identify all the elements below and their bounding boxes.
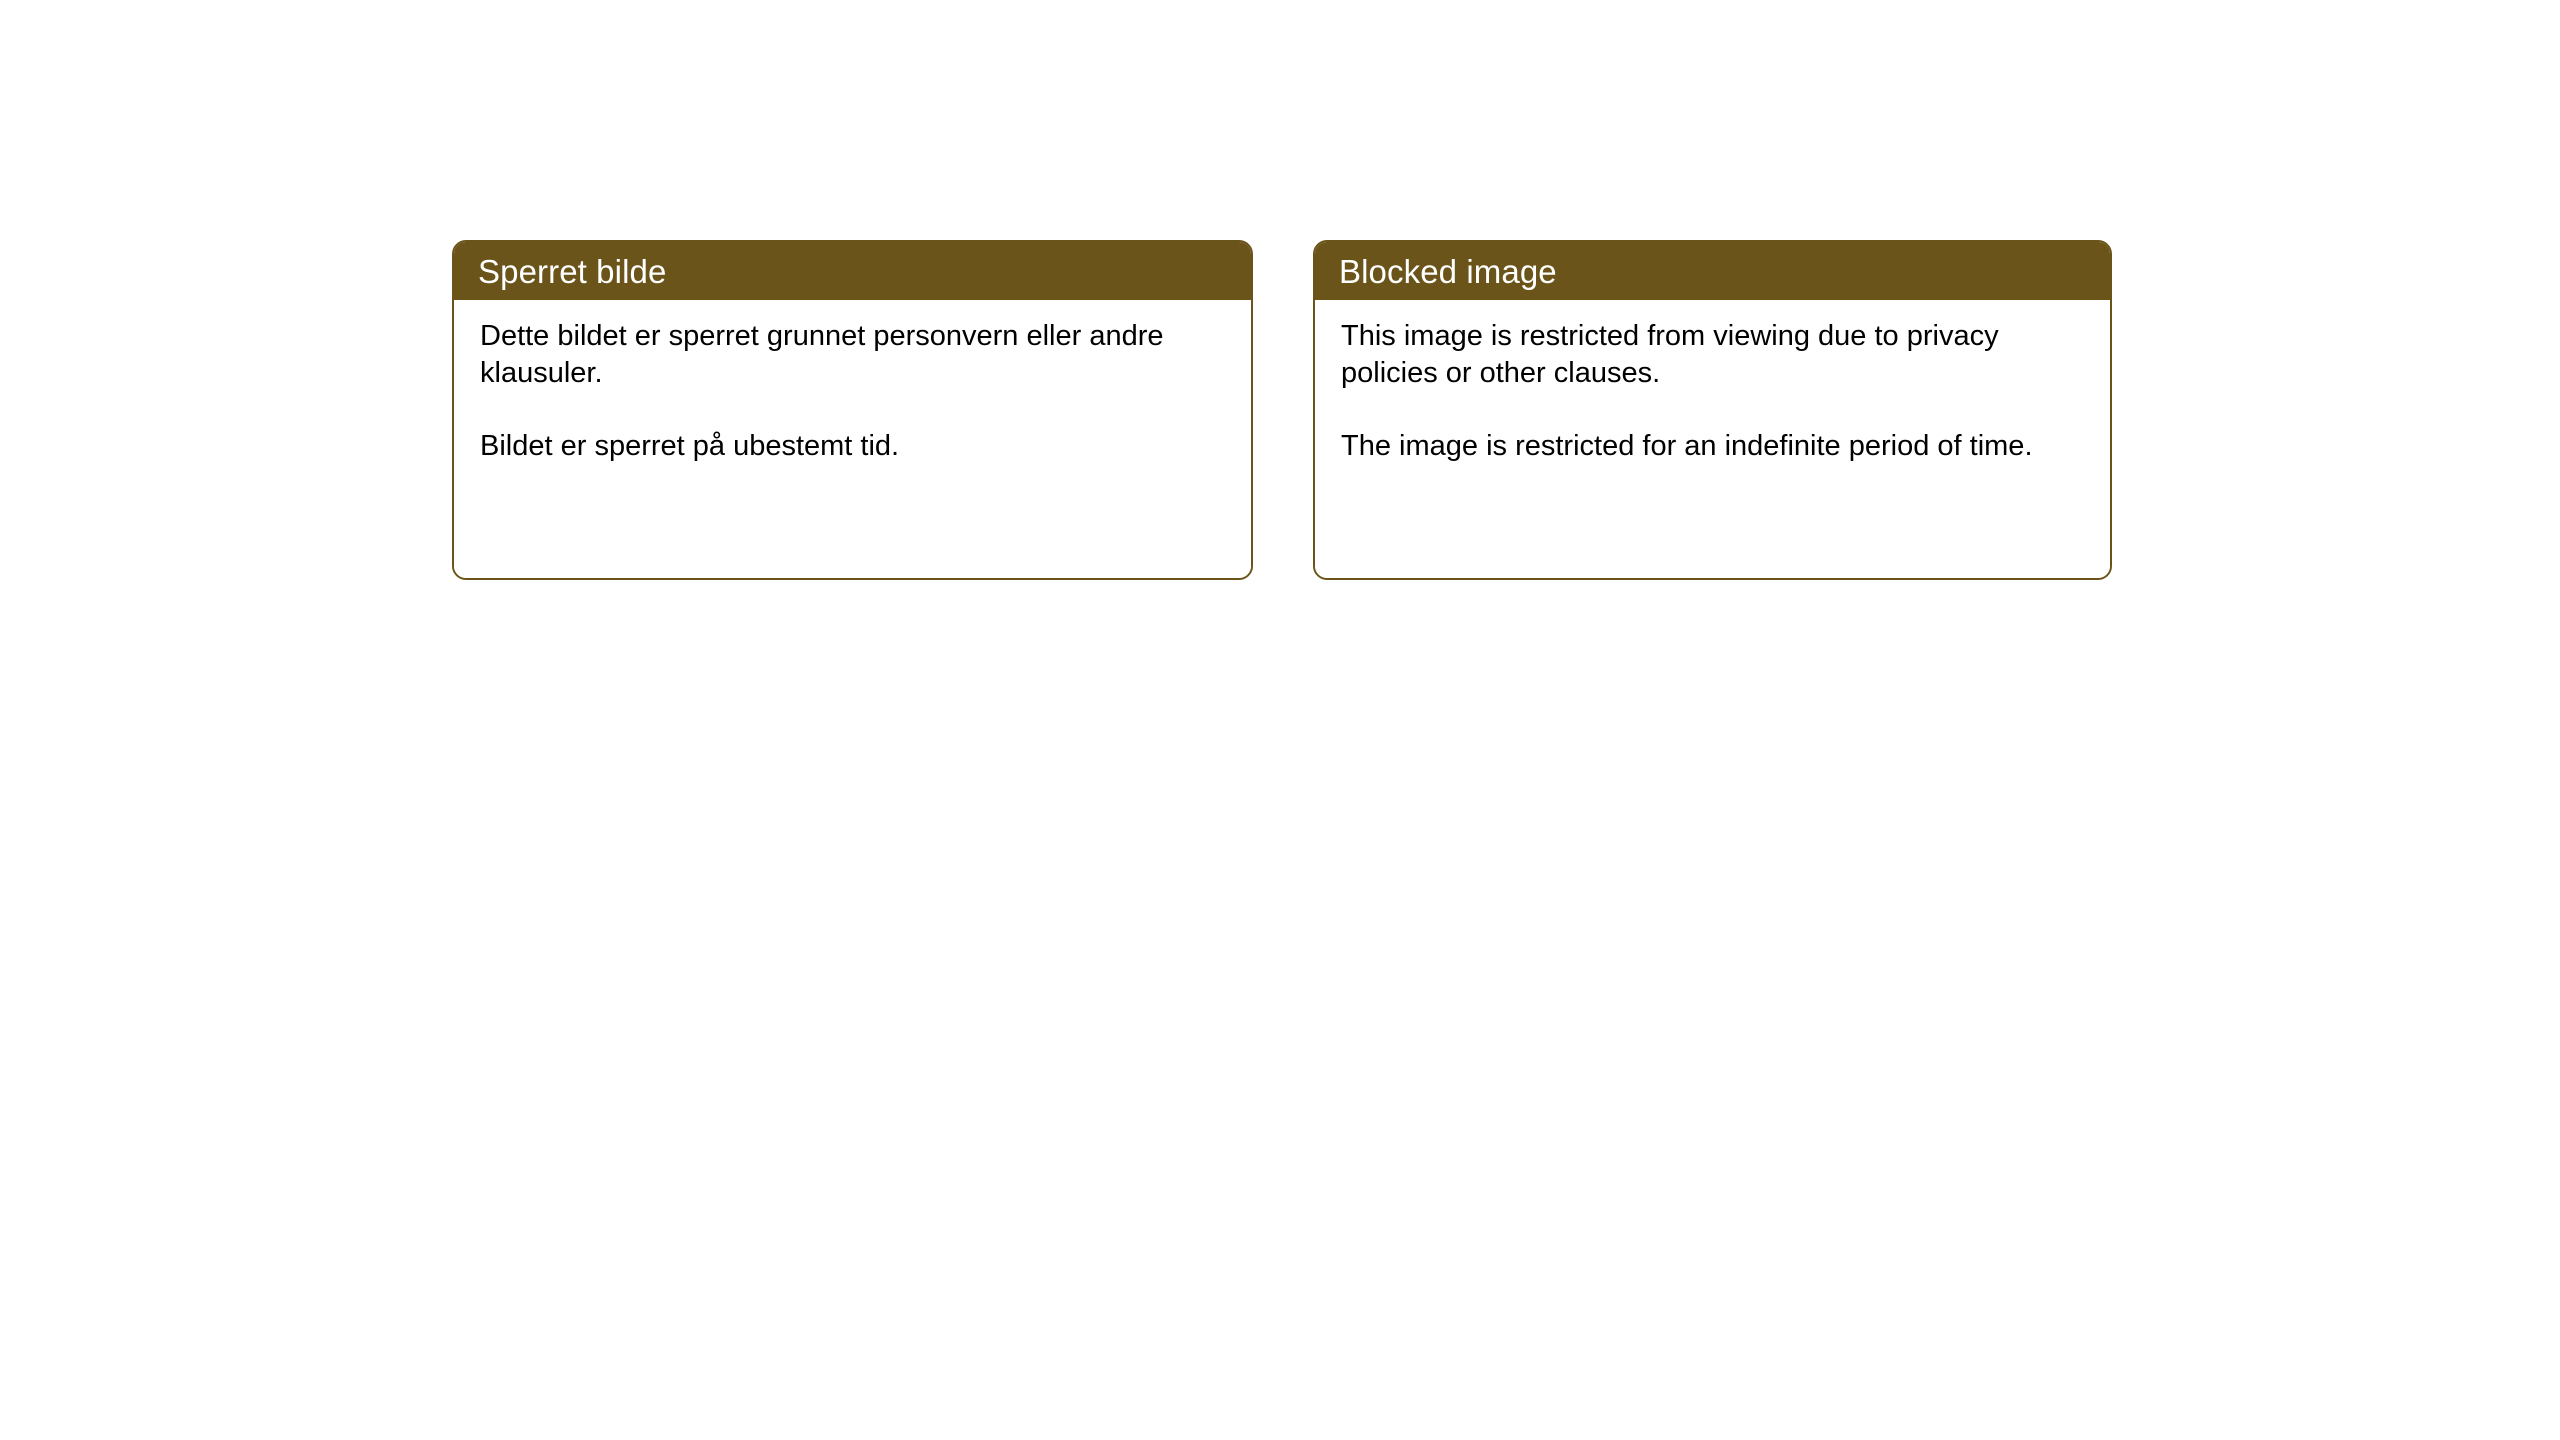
blocked-image-card-no: Sperret bilde Dette bildet er sperret gr…: [452, 240, 1253, 580]
card-header-no: Sperret bilde: [454, 242, 1251, 300]
card-header-en: Blocked image: [1315, 242, 2110, 300]
card-body-no: Dette bildet er sperret grunnet personve…: [454, 300, 1251, 578]
card-paragraph-en-1: This image is restricted from viewing du…: [1341, 318, 2061, 392]
card-title-no: Sperret bilde: [478, 255, 666, 288]
card-body-en: This image is restricted from viewing du…: [1315, 300, 2110, 578]
page-root: { "page": { "background_color": "#ffffff…: [0, 0, 2560, 1440]
card-paragraph-no-1: Dette bildet er sperret grunnet personve…: [480, 318, 1180, 392]
card-paragraph-no-2: Bildet er sperret på ubestemt tid.: [480, 428, 1180, 465]
blocked-image-card-en: Blocked image This image is restricted f…: [1313, 240, 2112, 580]
card-paragraph-en-2: The image is restricted for an indefinit…: [1341, 428, 2061, 465]
card-title-en: Blocked image: [1339, 255, 1557, 288]
